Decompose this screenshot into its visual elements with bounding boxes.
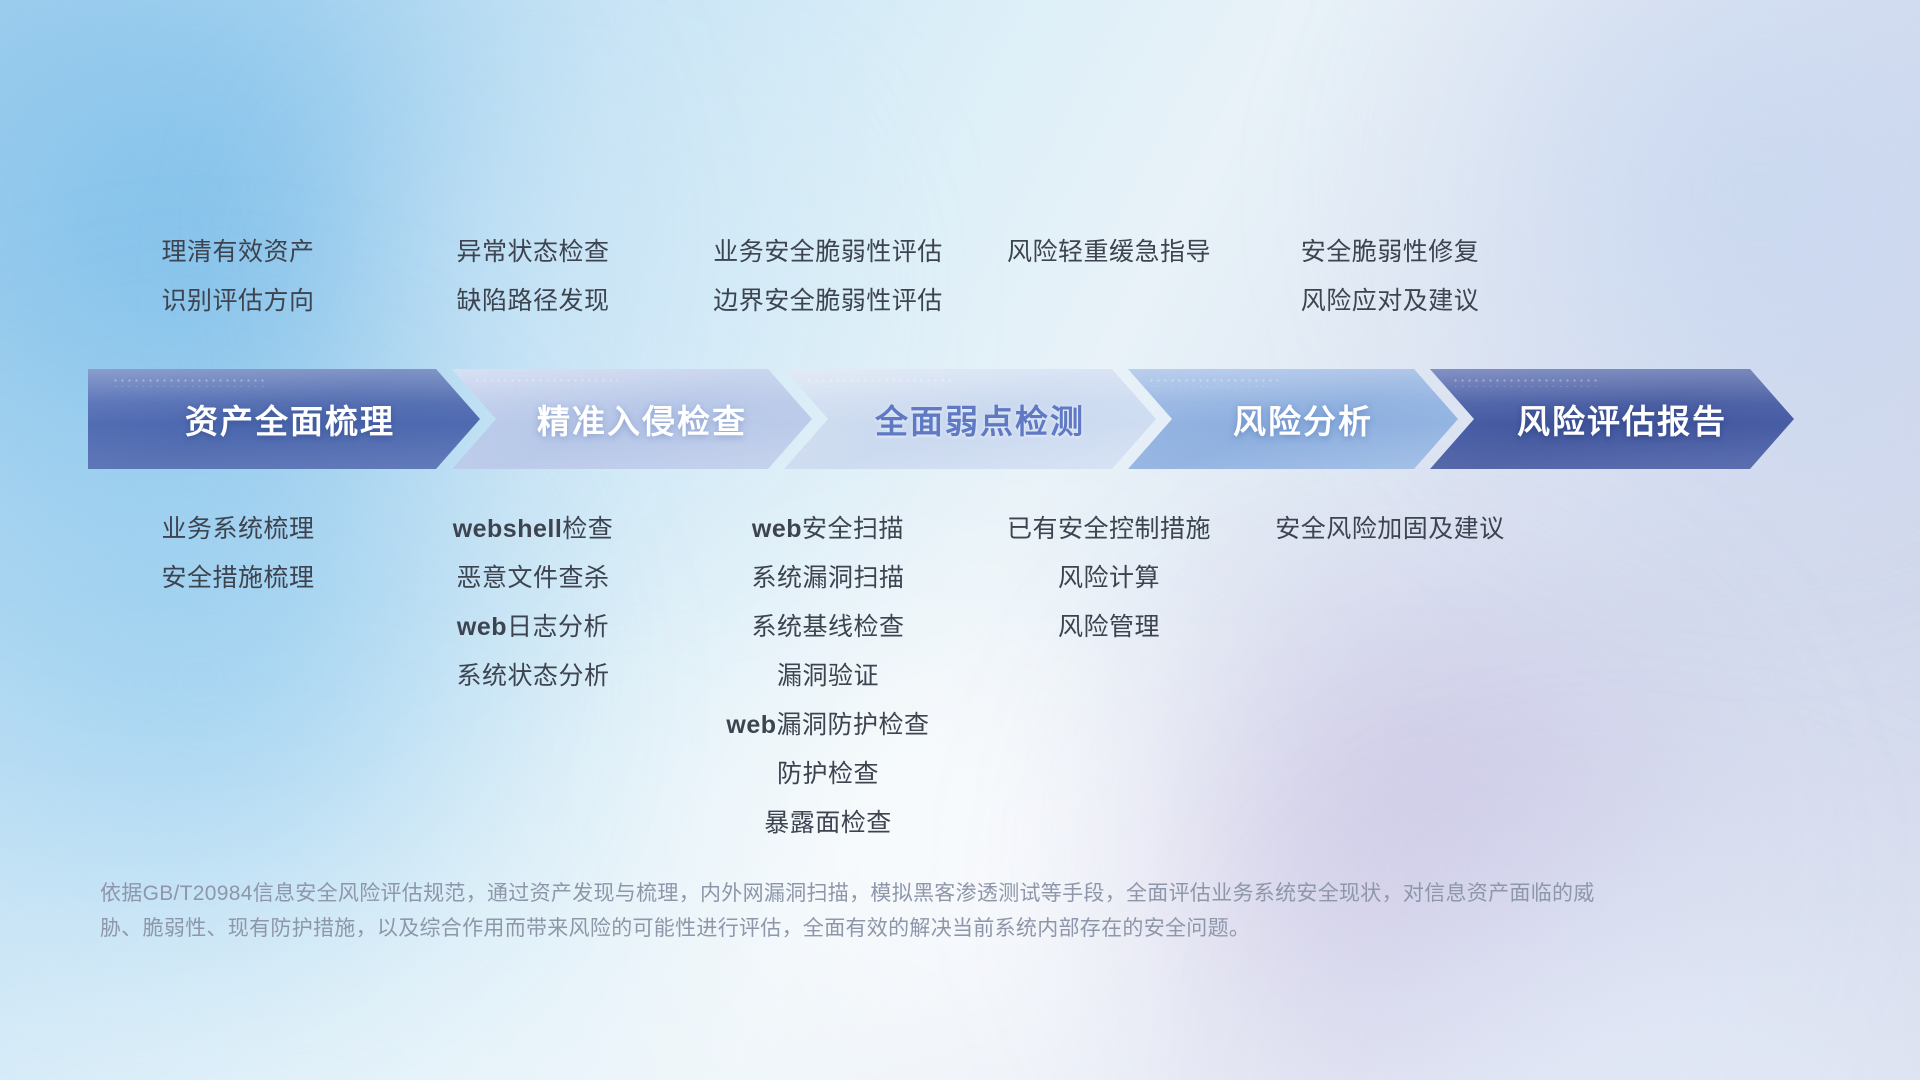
top-notes-step-5: 安全脆弱性修复 风险应对及建议	[1240, 228, 1540, 326]
bottom-items-step-1: 业务系统梳理 安全措施梳理	[88, 505, 388, 603]
list-item: webshell检查	[388, 505, 678, 554]
chevron-label: 风险评估报告	[1517, 395, 1727, 443]
chevron-step-weakness-detection[interactable]: 全面弱点检测	[784, 369, 1156, 469]
top-notes-row: 理清有效资产 识别评估方向 异常状态检查 缺陷路径发现 业务安全脆弱性评估 边界…	[88, 228, 1920, 326]
top-note: 风险轻重缓急指导	[978, 228, 1240, 277]
list-item: 业务系统梳理	[88, 505, 388, 554]
bottom-items-step-5: 安全风险加固及建议	[1240, 505, 1540, 554]
top-note: 异常状态检查	[388, 228, 678, 277]
top-note: 风险应对及建议	[1240, 277, 1540, 326]
chevron-label: 资产全面梳理	[185, 395, 395, 443]
sparkle-dots-icon	[806, 377, 955, 387]
chevron-step-asset-inventory[interactable]: 资产全面梳理	[88, 369, 480, 469]
chevron-label: 风险分析	[1233, 395, 1373, 443]
top-notes-step-4: 风险轻重缓急指导	[978, 228, 1240, 277]
list-item: web漏洞防护检查	[678, 701, 978, 750]
list-item: 恶意文件查杀	[388, 554, 678, 603]
top-notes-step-1: 理清有效资产 识别评估方向	[88, 228, 388, 326]
list-item: 安全措施梳理	[88, 554, 388, 603]
bottom-items-step-2: webshell检查 恶意文件查杀 web日志分析 系统状态分析	[388, 505, 678, 701]
top-notes-step-3: 业务安全脆弱性评估 边界安全脆弱性评估	[678, 228, 978, 326]
top-note: 业务安全脆弱性评估	[678, 228, 978, 277]
list-item: 防护检查	[678, 750, 978, 799]
chevron-label: 全面弱点检测	[875, 395, 1085, 443]
top-note: 安全脆弱性修复	[1240, 228, 1540, 277]
bottom-items-step-3: web安全扫描 系统漏洞扫描 系统基线检查 漏洞验证 web漏洞防护检查 防护检…	[678, 505, 978, 848]
list-item: 风险管理	[978, 603, 1240, 652]
bottom-items-step-4: 已有安全控制措施 风险计算 风险管理	[978, 505, 1240, 652]
top-note: 边界安全脆弱性评估	[678, 277, 978, 326]
chevron-step-risk-analysis[interactable]: 风险分析	[1128, 369, 1458, 469]
sparkle-dots-icon	[1452, 377, 1598, 387]
process-diagram: 理清有效资产 识别评估方向 异常状态检查 缺陷路径发现 业务安全脆弱性评估 边界…	[0, 0, 1920, 1080]
list-item: web日志分析	[388, 603, 678, 652]
sparkle-dots-icon	[1148, 377, 1280, 387]
list-item: 系统漏洞扫描	[678, 554, 978, 603]
chevron-step-risk-report[interactable]: 风险评估报告	[1430, 369, 1794, 469]
flow-chevron-banner: 资产全面梳理 精准入侵检查 全面弱点检测 风险分析 风险评估报告	[88, 369, 1838, 469]
sparkle-dots-icon	[474, 377, 618, 387]
chevron-label: 精准入侵检查	[537, 395, 747, 443]
sparkle-dots-icon	[112, 377, 269, 387]
top-notes-step-2: 异常状态检查 缺陷路径发现	[388, 228, 678, 326]
bottom-items-row: 业务系统梳理 安全措施梳理 webshell检查 恶意文件查杀 web日志分析 …	[88, 505, 1920, 848]
list-item: 暴露面检查	[678, 799, 978, 848]
list-item: 风险计算	[978, 554, 1240, 603]
list-item: 已有安全控制措施	[978, 505, 1240, 554]
list-item: 系统状态分析	[388, 652, 678, 701]
chevron-step-intrusion-check[interactable]: 精准入侵检查	[452, 369, 812, 469]
top-note: 缺陷路径发现	[388, 277, 678, 326]
top-note: 识别评估方向	[88, 277, 388, 326]
list-item: 安全风险加固及建议	[1240, 505, 1540, 554]
top-note: 理清有效资产	[88, 228, 388, 277]
list-item: web安全扫描	[678, 505, 978, 554]
list-item: 漏洞验证	[678, 652, 978, 701]
footer-description: 依据GB/T20984信息安全风险评估规范，通过资产发现与梳理，内外网漏洞扫描，…	[100, 876, 1620, 946]
list-item: 系统基线检查	[678, 603, 978, 652]
